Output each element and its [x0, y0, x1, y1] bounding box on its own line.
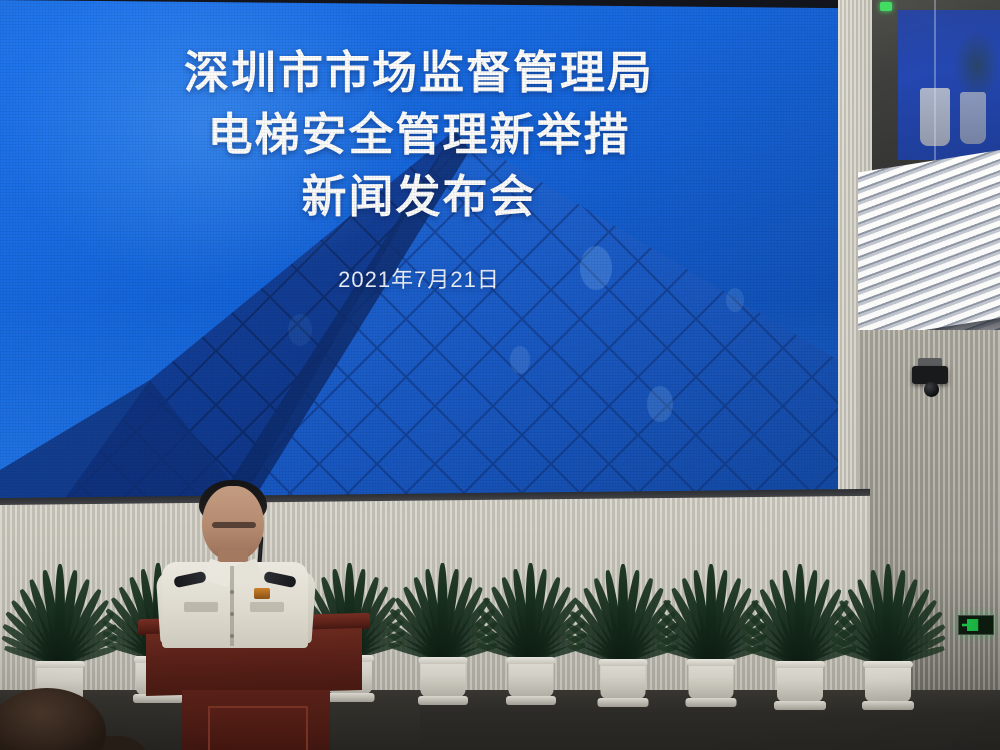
plant-foliage: [10, 544, 110, 664]
plant-pot: [777, 662, 823, 702]
camera-lens-icon: [924, 382, 939, 397]
window-reflection-pot-2: [960, 92, 986, 144]
presenter-button: [230, 612, 234, 616]
presenter-face-shadow: [212, 522, 256, 528]
glass-pyramid-graphic: [0, 0, 838, 505]
glass-window-panel: [872, 0, 1000, 176]
presenter-pocket-left: [184, 602, 218, 612]
plant-pot-base: [774, 701, 826, 710]
plant-foliage: [838, 544, 938, 664]
plant-pot-rim: [775, 661, 825, 668]
green-indicator-light: [880, 2, 892, 11]
window-mullion: [934, 0, 936, 176]
plant-pot-base: [686, 698, 737, 707]
plant-pot-rim: [418, 657, 467, 664]
press-conference-photo: 深圳市市场监督管理局 电梯安全管理新举措 新闻发布会 2021年7月21日: [0, 0, 1000, 750]
presenter-pocket-right: [250, 602, 284, 612]
emergency-exit-sign: [958, 615, 994, 635]
window-reflection-plant: [954, 30, 1000, 100]
presenter-uniform-badge: [254, 588, 270, 599]
potted-plant: [480, 540, 581, 705]
plant-pot-rim: [863, 661, 913, 668]
plant-pot-rim: [687, 659, 736, 666]
presenter-in-white-uniform: [158, 478, 348, 638]
plant-foliage: [662, 544, 760, 662]
podium-decor-panel: [208, 706, 308, 750]
plant-pot-base: [598, 698, 649, 707]
plant-pot-rim: [35, 661, 85, 668]
plant-pot-base: [506, 696, 556, 705]
slide-background-artwork: [0, 0, 838, 505]
presenter-button: [230, 634, 234, 638]
potted-plant: [8, 540, 112, 710]
led-display-screen[interactable]: 深圳市市场监督管理局 电梯安全管理新举措 新闻发布会 2021年7月21日: [0, 0, 838, 505]
potted-plant: [836, 540, 940, 710]
plant-pot: [865, 662, 911, 702]
camera-bracket: [918, 358, 942, 366]
plant-pot-base: [862, 701, 914, 710]
running-man-exit-icon: [962, 619, 990, 631]
plant-pot-base: [418, 696, 468, 705]
presenter-button: [230, 590, 234, 594]
potted-plant: [660, 540, 762, 707]
plant-pot-rim: [506, 657, 555, 664]
plant-foliage: [482, 544, 579, 660]
plant-pot-rim: [599, 659, 648, 666]
